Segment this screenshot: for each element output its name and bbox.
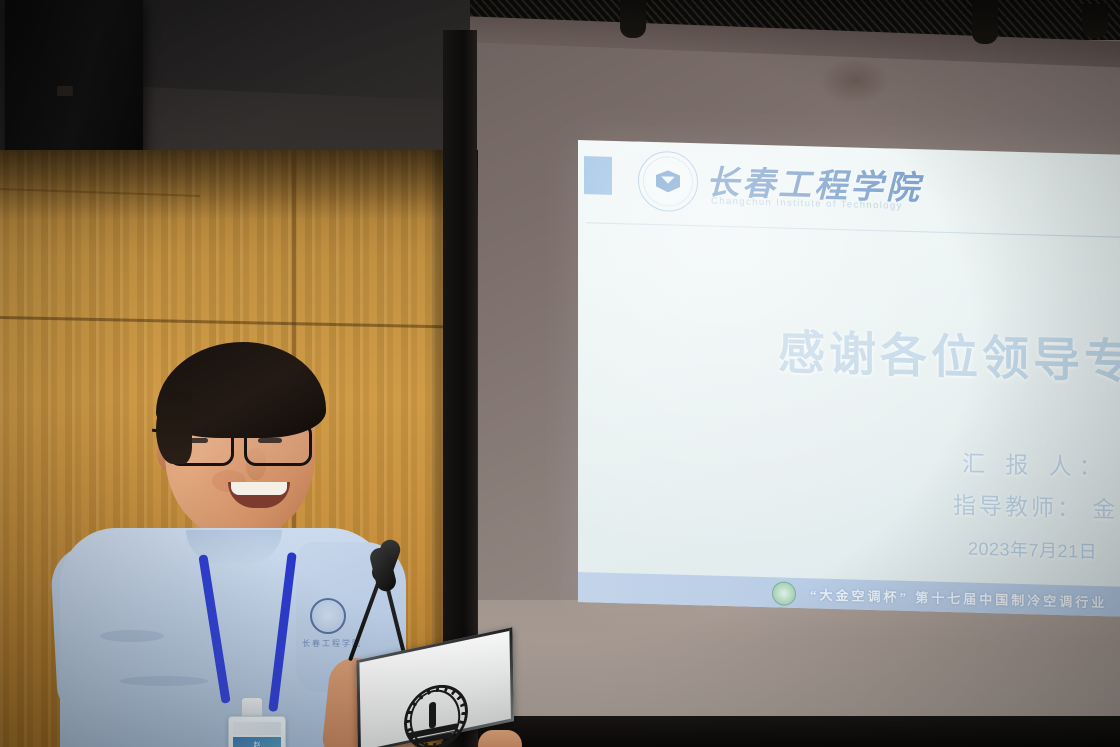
- slide-date: 2023年7月21日: [968, 535, 1097, 564]
- slide-header: 长春工程学院 Changchun Institute of Technology: [578, 140, 1120, 233]
- slide-title: 感谢各位领导专: [778, 313, 1120, 395]
- header-divider: [586, 222, 1120, 238]
- header-square-decoration: [584, 156, 612, 195]
- slide: 长春工程学院 Changchun Institute of Technology…: [578, 140, 1120, 617]
- slide-footer-text: “大金空调杯” 第十七届中国制冷空调行业: [810, 584, 1107, 611]
- badge-name-text: 赵悦: [251, 741, 261, 747]
- hand: [478, 730, 522, 747]
- ceiling-mount-icon: [1082, 4, 1108, 38]
- fabric-fold: [100, 630, 164, 642]
- presentation-photo: 长春工程学院 Changchun Institute of Technology…: [0, 0, 1120, 747]
- competition-logo-icon: [772, 581, 796, 606]
- fabric-fold: [120, 676, 208, 686]
- hair-side: [156, 392, 192, 464]
- name-badge: 赵悦: [228, 716, 286, 747]
- ceiling-mount-icon: [972, 0, 998, 44]
- wall-smudge: [820, 58, 890, 104]
- back-wall-lower: [470, 600, 1120, 720]
- slide-advisor-line: 指导教师： 金洪文: [953, 486, 1120, 526]
- wood-top-shadow: [0, 150, 478, 220]
- slide-presenter-line: 汇 报 人： 赵 悦: [962, 444, 1120, 484]
- shirt-chest-logo-icon: [310, 598, 346, 634]
- ceiling-mount-icon: [620, 0, 646, 38]
- floor-shadow: [470, 716, 1120, 747]
- projection-screen: 长春工程学院 Changchun Institute of Technology…: [578, 140, 1120, 617]
- university-seal-icon: [638, 151, 698, 213]
- podium: [352, 646, 522, 747]
